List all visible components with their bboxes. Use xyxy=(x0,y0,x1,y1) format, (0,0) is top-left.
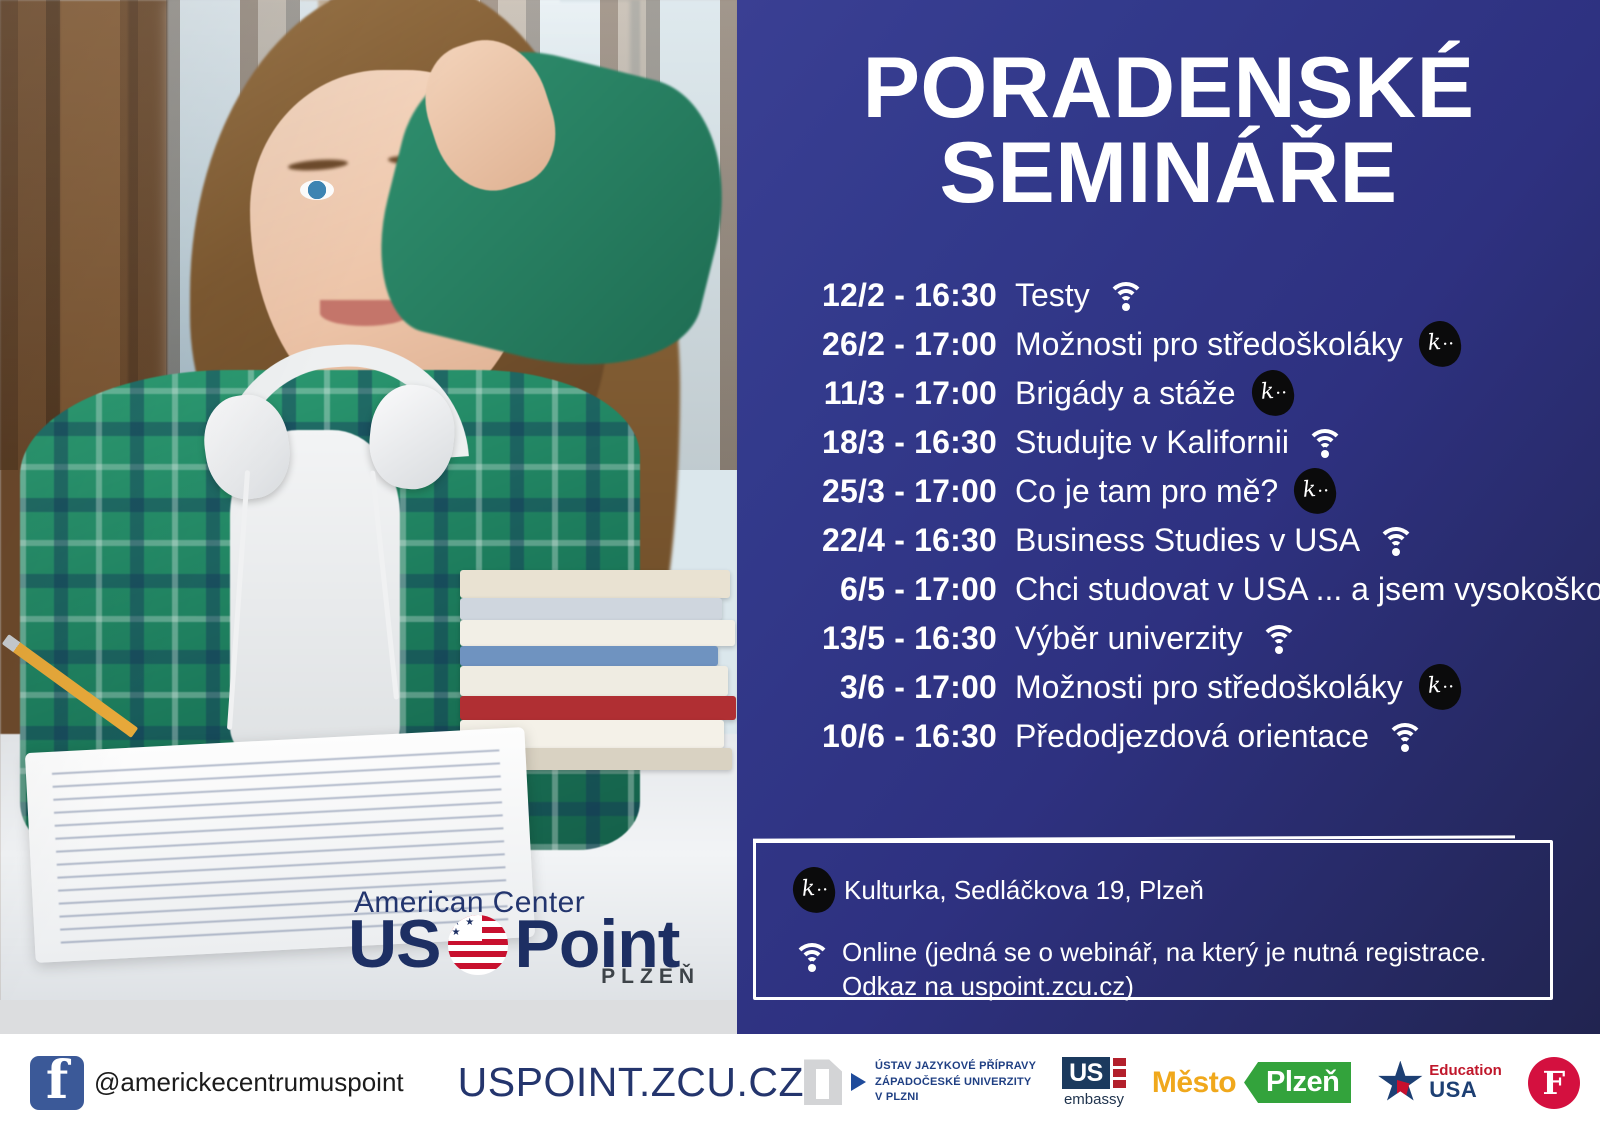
mesto-word: Město xyxy=(1152,1066,1236,1100)
seminar-row: 3/6 - 17:00 Možnosti pro středoškoláky k xyxy=(757,662,1600,711)
student-photo xyxy=(0,0,737,1034)
ujp-logo-text: ÚSTAV JAZYKOVÉ PŘÍPRAVY ZÁPADOČESKÉ UNIV… xyxy=(875,1059,1036,1106)
seminar-title: Testy xyxy=(1015,279,1090,311)
us-embassy-caption: embassy xyxy=(1062,1091,1126,1108)
legend-venue-text: Kulturka, Sedláčkova 19, Plzeň xyxy=(844,873,1204,907)
wifi-icon xyxy=(1305,427,1345,457)
title-line-1: PORADENSKÉ xyxy=(863,40,1475,136)
kulturka-icon: k xyxy=(1252,370,1294,416)
education-usa-text: Education USA xyxy=(1429,1063,1502,1103)
page-title: PORADENSKÉ SEMINÁŘE xyxy=(737,0,1600,216)
seminar-list: 12/2 - 16:30 Testy 26/2 - 17:00 Možnosti… xyxy=(737,270,1600,760)
seminar-date: 26/2 - 17:00 xyxy=(757,328,997,360)
seminar-row: 13/5 - 16:30 Výběr univerzity xyxy=(757,613,1600,662)
seminar-title: Chci studovat v USA ... a jsem vysokoško… xyxy=(1015,573,1600,605)
website-url[interactable]: USPOINT.ZCU.CZ xyxy=(458,1059,804,1106)
ujp-triangle-icon xyxy=(851,1073,866,1091)
facebook-icon[interactable] xyxy=(30,1056,84,1110)
seminar-date: 11/3 - 17:00 xyxy=(757,377,997,409)
wifi-icon xyxy=(1259,623,1299,653)
seminar-title: Business Studies v USA xyxy=(1015,524,1360,556)
seminar-row: 26/2 - 17:00 Možnosti pro středoškoláky … xyxy=(757,319,1600,368)
legend-box: k Kulturka, Sedláčkova 19, Plzeň Online … xyxy=(753,840,1553,1000)
seminar-row: 12/2 - 16:30 Testy xyxy=(757,270,1600,319)
seminar-title: Výběr univerzity xyxy=(1015,622,1243,654)
us-embassy-mark: US xyxy=(1062,1057,1126,1089)
ujp-mark-icon xyxy=(804,1059,842,1105)
info-panel: PORADENSKÉ SEMINÁŘE 12/2 - 16:30 Testy 2… xyxy=(737,0,1600,1034)
seminar-row: 10/6 - 16:30 Předodjezdová orientace xyxy=(757,711,1600,760)
us-embassy-logo: US embassy xyxy=(1062,1057,1126,1108)
seminar-date: 18/3 - 16:30 xyxy=(757,426,997,458)
legend-venue-row: k Kulturka, Sedláčkova 19, Plzeň xyxy=(784,867,1550,913)
us-embassy-us-text: US xyxy=(1062,1057,1110,1089)
gray-divider-strip xyxy=(0,1000,737,1034)
seminar-title: Co je tam pro mě? xyxy=(1015,475,1278,507)
mesto-plzen-logo: Město Plzeň xyxy=(1152,1062,1351,1103)
seminar-row: 22/4 - 16:30 Business Studies v USA xyxy=(757,515,1600,564)
ujp-line-1: ÚSTAV JAZYKOVÉ PŘÍPRAVY xyxy=(875,1060,1036,1072)
kulturka-icon: k xyxy=(784,867,844,913)
legend-online-text: Online (jedná se o webinář, na který je … xyxy=(842,935,1487,1004)
logo-stars: ★ ★ ★ xyxy=(451,918,481,940)
poster: American Center US ★ ★ ★ Point PLZEŇ POR… xyxy=(0,0,1600,1131)
fulbright-logo: F xyxy=(1528,1057,1580,1109)
us-point-logo: American Center US ★ ★ ★ Point PLZEŇ xyxy=(348,888,708,989)
education-usa-line-2: USA xyxy=(1429,1077,1477,1102)
seminar-date: 12/2 - 16:30 xyxy=(757,279,997,311)
seminar-row: 18/3 - 16:30 Studujte v Kalifornii xyxy=(757,417,1600,466)
seminar-row: 11/3 - 17:00 Brigády a stáže k xyxy=(757,368,1600,417)
kulturka-icon: k xyxy=(1294,468,1336,514)
partner-logos: ÚSTAV JAZYKOVÉ PŘÍPRAVY ZÁPADOČESKÉ UNIV… xyxy=(804,1057,1600,1109)
title-line-2: SEMINÁŘE xyxy=(737,131,1600,216)
seminar-date: 13/5 - 16:30 xyxy=(757,622,997,654)
seminar-date: 22/4 - 16:30 xyxy=(757,524,997,556)
seminar-row: 6/5 - 17:00 Chci studovat v USA ... a js… xyxy=(757,564,1600,613)
logo-us-text: US xyxy=(348,912,440,977)
seminar-title: Brigády a stáže xyxy=(1015,377,1236,409)
fulbright-letter: F xyxy=(1542,1067,1565,1099)
seminar-title: Studujte v Kalifornii xyxy=(1015,426,1289,458)
ujp-line-3: V PLZNI xyxy=(875,1091,919,1103)
seminar-date: 10/6 - 16:30 xyxy=(757,720,997,752)
wifi-icon xyxy=(1376,525,1416,555)
seminar-title: Předodjezdová orientace xyxy=(1015,720,1369,752)
facebook-handle[interactable]: @americkecentrumuspoint xyxy=(94,1067,404,1098)
wifi-icon xyxy=(1385,721,1425,751)
seminar-date: 3/6 - 17:00 xyxy=(757,671,997,703)
education-usa-logo: Education USA xyxy=(1377,1061,1502,1105)
kulturka-icon: k xyxy=(1419,664,1461,710)
us-flag-circle-icon: ★ ★ ★ xyxy=(448,915,508,975)
education-usa-star-icon xyxy=(1377,1061,1423,1105)
kulturka-icon: k xyxy=(1419,321,1461,367)
seminar-title: Možnosti pro středoškoláky xyxy=(1015,328,1403,360)
legend-online-row: Online (jedná se o webinář, na který je … xyxy=(782,935,1550,1004)
education-usa-line-1: Education xyxy=(1429,1062,1502,1079)
footer-bar: @americkecentrumuspoint USPOINT.ZCU.CZ Ú… xyxy=(0,1034,1600,1131)
ujp-logo: ÚSTAV JAZYKOVÉ PŘÍPRAVY ZÁPADOČESKÉ UNIV… xyxy=(804,1059,1036,1106)
seminar-date: 6/5 - 17:00 xyxy=(757,573,997,605)
seminar-title: Možnosti pro středoškoláky xyxy=(1015,671,1403,703)
seminar-date: 25/3 - 17:00 xyxy=(757,475,997,507)
wifi-icon xyxy=(1106,280,1146,310)
seminar-row: 25/3 - 17:00 Co je tam pro mě? k xyxy=(757,466,1600,515)
us-embassy-bars-icon xyxy=(1113,1057,1126,1089)
legend-online-line-2: Odkaz na uspoint.zcu.cz) xyxy=(842,971,1134,1001)
legend-online-line-1: Online (jedná se o webinář, na který je … xyxy=(842,937,1487,967)
wifi-icon xyxy=(782,935,842,971)
plzen-tag: Plzeň xyxy=(1244,1062,1351,1103)
photo-shading xyxy=(0,0,737,1034)
logo-wordmark: US ★ ★ ★ Point xyxy=(348,920,708,969)
ujp-line-2: ZÁPADOČESKÉ UNIVERZITY xyxy=(875,1076,1031,1088)
